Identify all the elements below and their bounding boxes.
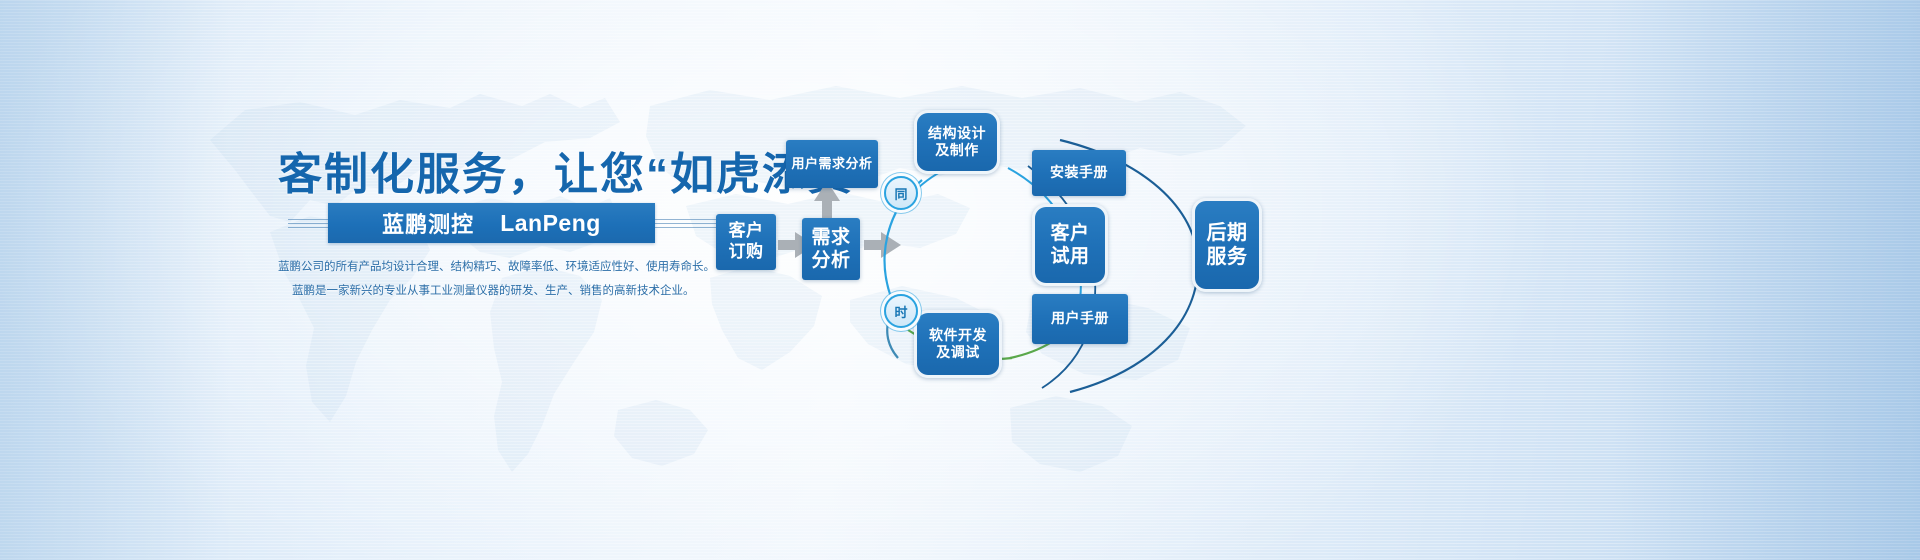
node-demand-analysis[interactable]: 需求 分析 [802, 218, 860, 280]
node-install-manual[interactable]: 安装手册 [1032, 150, 1126, 196]
flow-connectors [0, 0, 1920, 560]
process-flowchart: 用户需求分析 客户 订购 需求 分析 结构设计 及制作 软件开发 及调试 安装手… [0, 0, 1920, 560]
node-software-development[interactable]: 软件开发 及调试 [914, 310, 1002, 378]
badge-shi: 时 [884, 294, 918, 328]
node-customer-trial[interactable]: 客户 试用 [1032, 204, 1108, 286]
banner-root: 客制化服务，让您“如虎添翼” 蓝鹏测控 LanPeng 蓝鹏公司的所有产品均设计… [0, 0, 1920, 560]
badge-tong: 同 [884, 176, 918, 210]
node-user-demand-analysis[interactable]: 用户需求分析 [786, 140, 878, 188]
node-customer-order[interactable]: 客户 订购 [716, 214, 776, 270]
node-user-manual[interactable]: 用户手册 [1032, 294, 1128, 344]
node-structure-design[interactable]: 结构设计 及制作 [914, 110, 1000, 174]
node-after-service[interactable]: 后期 服务 [1192, 198, 1262, 292]
